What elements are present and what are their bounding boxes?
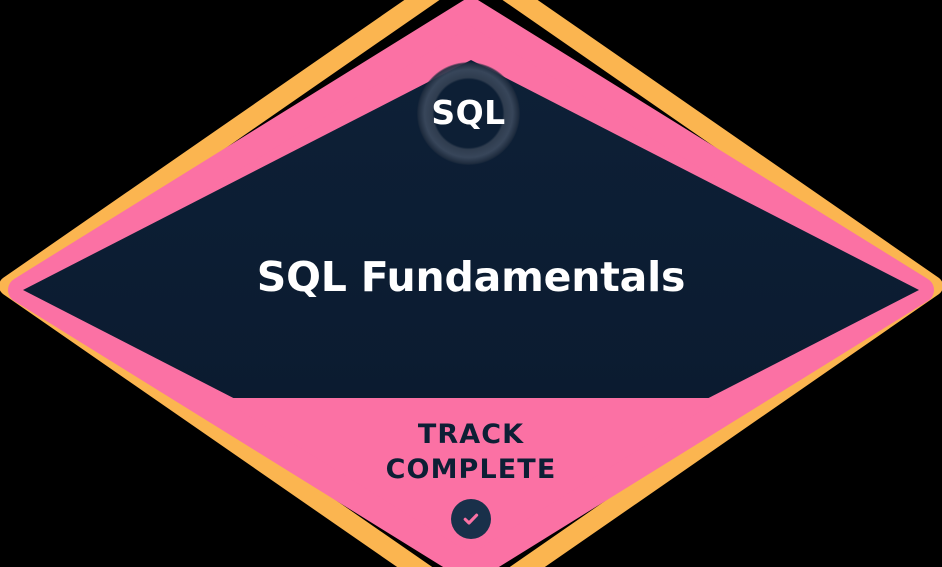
sql-ring-badge: SQL — [417, 62, 520, 165]
track-badge-card: SQL SQL Fundamentals TRACK COMPLETE — [0, 0, 942, 567]
sql-badge-label: SQL — [431, 96, 505, 129]
status-line-track: TRACK — [0, 418, 942, 453]
status-line-complete: COMPLETE — [0, 453, 942, 488]
status-badge: TRACK COMPLETE — [0, 418, 942, 539]
page-title: SQL Fundamentals — [0, 255, 942, 301]
check-circle-icon — [451, 499, 491, 539]
